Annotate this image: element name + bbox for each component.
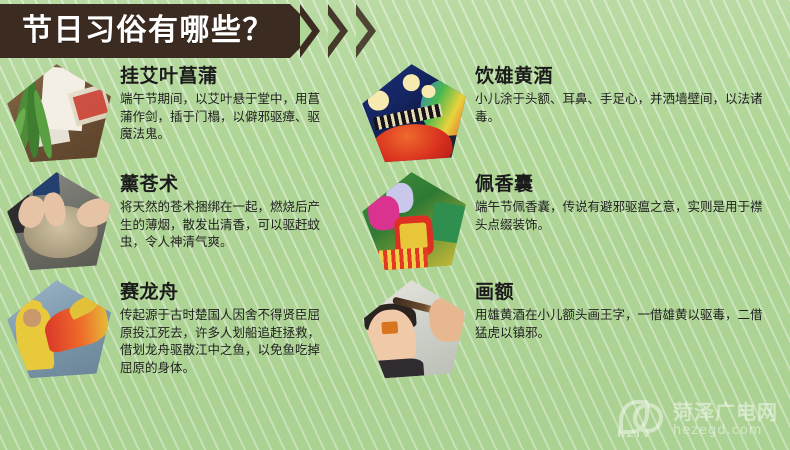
header-bar: 节日习俗有哪些？ bbox=[0, 4, 290, 58]
list-item-text: 薰苍术 将天然的苍术捆绑在一起，燃烧后产生的薄烟，散发出清香，可以驱赶蚊虫，令人… bbox=[112, 170, 355, 251]
list-item: 挂艾叶菖蒲 端午节期间，以艾叶悬于堂中，用菖蒲作剑，插于门榻，以僻邪驱瘴、驱魔法… bbox=[0, 62, 355, 170]
watermark-site-name: 菏泽广电网 bbox=[673, 402, 778, 423]
list-item-thumbnail bbox=[8, 64, 112, 164]
list-item-title: 薰苍术 bbox=[120, 174, 355, 195]
custom-list: 挂艾叶菖蒲 端午节期间，以艾叶悬于堂中，用菖蒲作剑，插于门榻，以僻邪驱瘴、驱魔法… bbox=[0, 62, 790, 392]
list-item: 饮雄黄酒 小儿涂于头额、耳鼻、手足心，并洒墙壁间，以法诸毒。 bbox=[355, 62, 790, 170]
chevron-right-icon bbox=[356, 4, 376, 58]
list-item-title: 饮雄黄酒 bbox=[475, 66, 790, 87]
list-item-text: 画额 用雄黄酒在小儿额头画王字，一借雄黄以驱毒，二借猛虎以镇邪。 bbox=[467, 278, 790, 341]
list-item-body: 传起源于古时楚国人因舍不得贤臣屈原投江死去，许多人划船追赶拯救，借划龙舟驱散江中… bbox=[120, 306, 330, 377]
list-item: 薰苍术 将天然的苍术捆绑在一起，燃烧后产生的薄烟，散发出清香，可以驱赶蚊虫，令人… bbox=[0, 170, 355, 278]
atractylodes-basin-photo bbox=[5, 168, 116, 275]
list-item-body: 用雄黄酒在小儿额头画王字，一借雄黄以驱毒，二借猛虎以镇邪。 bbox=[475, 306, 765, 342]
watermark: HZTV 菏泽广电网 hezegd.com bbox=[615, 400, 778, 440]
list-item: 佩香囊 端午节佩香囊，传说有避邪驱瘟之意，实则是用于襟头点缀装饰。 bbox=[355, 170, 790, 278]
list-item-title: 赛龙舟 bbox=[120, 282, 355, 303]
list-item-thumbnail bbox=[8, 280, 112, 380]
hztv-logo-icon: HZTV bbox=[615, 400, 667, 440]
list-item-body: 端午节佩香囊，传说有避邪驱瘟之意，实则是用于襟头点缀装饰。 bbox=[475, 198, 765, 234]
list-item-text: 赛龙舟 传起源于古时楚国人因舍不得贤臣屈原投江死去，许多人划船追赶拯救，借划龙舟… bbox=[112, 278, 355, 377]
dragon-boat-photo bbox=[5, 276, 116, 383]
list-item-body: 小儿涂于头额、耳鼻、手足心，并洒墙壁间，以法诸毒。 bbox=[475, 90, 765, 126]
list-item-body: 将天然的苍术捆绑在一起，燃烧后产生的薄烟，散发出清香，可以驱赶蚊虫，令人神清气爽… bbox=[120, 198, 330, 251]
sachet-photo bbox=[360, 168, 471, 275]
list-item-title: 挂艾叶菖蒲 bbox=[120, 66, 355, 87]
list-item-title: 画额 bbox=[475, 282, 790, 303]
list-item-thumbnail bbox=[363, 64, 467, 164]
chevron-right-icon bbox=[328, 4, 348, 58]
list-item: 赛龙舟 传起源于古时楚国人因舍不得贤臣屈原投江死去，许多人划船追赶拯救，借划龙舟… bbox=[0, 278, 355, 392]
watermark-url: hezegd.com bbox=[673, 423, 778, 439]
mugwort-calamus-photo bbox=[5, 60, 116, 167]
list-item-text: 佩香囊 端午节佩香囊，传说有避邪驱瘟之意，实则是用于襟头点缀装饰。 bbox=[467, 170, 790, 233]
header-banner: 节日习俗有哪些？ bbox=[0, 4, 790, 58]
chevron-right-icon bbox=[300, 4, 320, 58]
forehead-painting-photo bbox=[360, 276, 471, 383]
page-title: 节日习俗有哪些？ bbox=[22, 16, 274, 46]
list-item-thumbnail bbox=[8, 172, 112, 272]
list-item-title: 佩香囊 bbox=[475, 174, 790, 195]
list-item-body: 端午节期间，以艾叶悬于堂中，用菖蒲作剑，插于门榻，以僻邪驱瘴、驱魔法鬼。 bbox=[120, 90, 330, 143]
chevron-group bbox=[290, 4, 376, 58]
list-item-thumbnail bbox=[363, 172, 467, 272]
list-item-text: 挂艾叶菖蒲 端午节期间，以艾叶悬于堂中，用菖蒲作剑，插于门榻，以僻邪驱瘴、驱魔法… bbox=[112, 62, 355, 143]
watermark-logo-text: HZTV bbox=[617, 429, 651, 440]
list-item-text: 饮雄黄酒 小儿涂于头额、耳鼻、手足心，并洒墙壁间，以法诸毒。 bbox=[467, 62, 790, 125]
list-item-thumbnail bbox=[363, 280, 467, 380]
realgar-wine-photo bbox=[360, 60, 471, 167]
watermark-text: 菏泽广电网 hezegd.com bbox=[673, 402, 778, 439]
list-item: 画额 用雄黄酒在小儿额头画王字，一借雄黄以驱毒，二借猛虎以镇邪。 bbox=[355, 278, 790, 392]
